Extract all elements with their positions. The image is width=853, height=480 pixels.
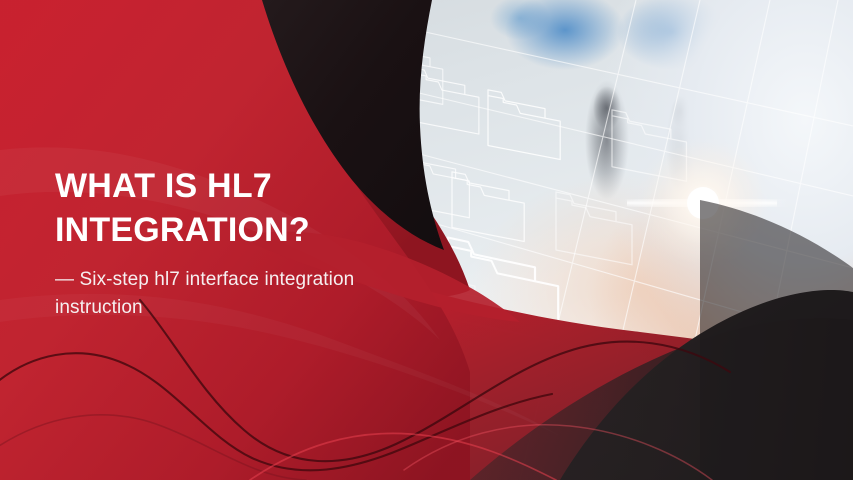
- headline-line-1: WHAT IS HL7: [55, 167, 272, 205]
- headline-line-2: INTEGRATION?: [55, 208, 385, 252]
- subheadline-line-1: — Six-step hl7 interface: [55, 269, 259, 290]
- red-accent-curve-line: [404, 425, 712, 480]
- sine-curve-line: [0, 415, 306, 480]
- copy-block: WHAT IS HL7 INTEGRATION? — Six-step hl7 …: [55, 164, 385, 322]
- page-title: WHAT IS HL7 INTEGRATION?: [55, 164, 385, 252]
- page-subtitle: — Six-step hl7 interface integration ins…: [55, 266, 355, 322]
- hero-banner: WHAT IS HL7 INTEGRATION? — Six-step hl7 …: [0, 0, 853, 480]
- sine-curve-line: [0, 353, 552, 470]
